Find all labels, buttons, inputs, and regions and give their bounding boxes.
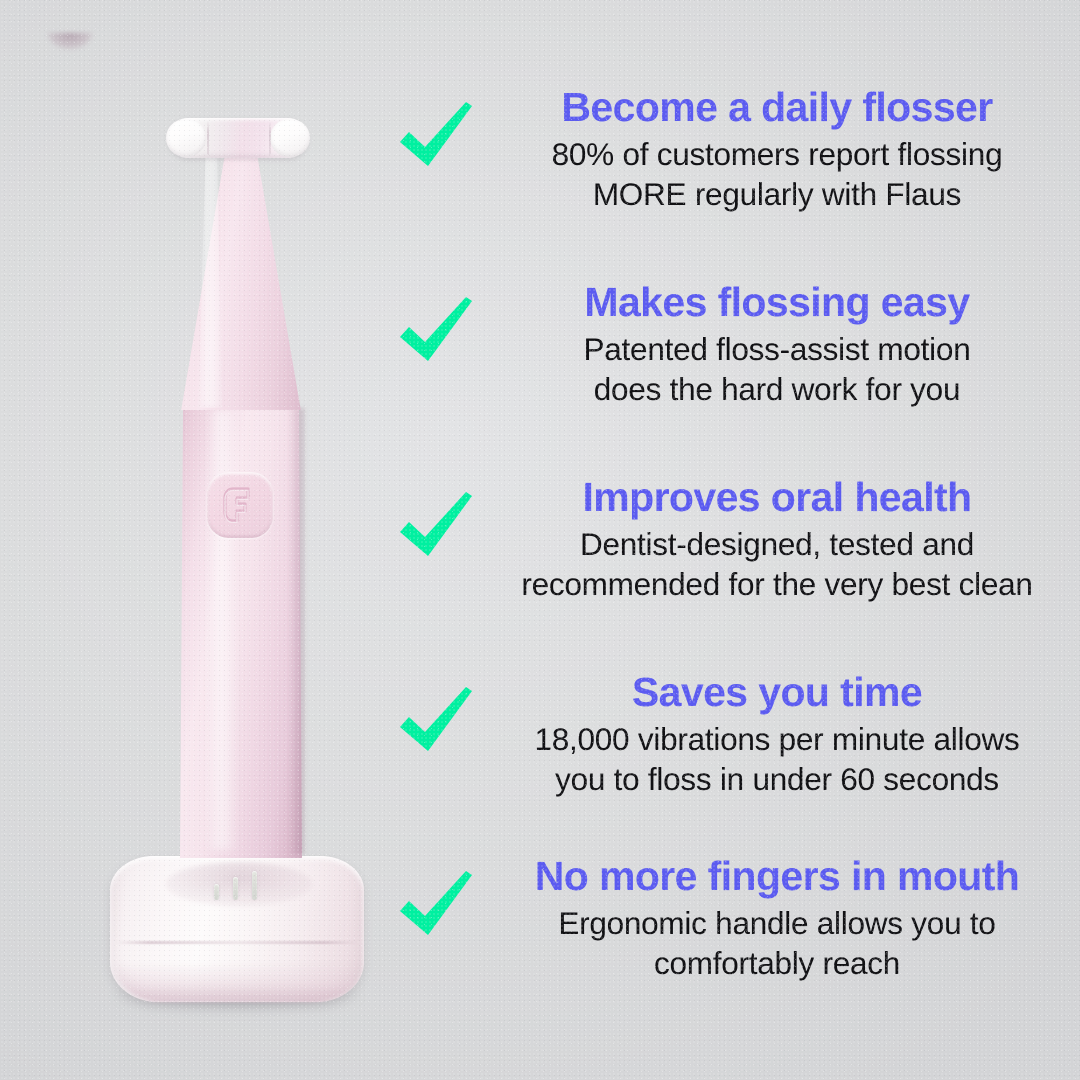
benefit-description: Patented floss-assist motion does the ha… bbox=[480, 329, 1074, 409]
benefit-title: Saves you time bbox=[480, 671, 1074, 714]
head-seam-left bbox=[207, 121, 209, 155]
base-docking-well bbox=[166, 862, 312, 906]
base-lower-skirt bbox=[118, 962, 356, 1002]
head-tip-right bbox=[270, 119, 310, 157]
benefit-description-line: 18,000 vibrations per minute allows bbox=[480, 719, 1074, 759]
green-checkmark-icon bbox=[392, 287, 480, 375]
benefit-description-line: comfortably reach bbox=[480, 943, 1074, 983]
benefit-description-line: you to floss in under 60 seconds bbox=[480, 759, 1074, 799]
green-checkmark-icon bbox=[392, 861, 480, 949]
benefit-title: Improves oral health bbox=[480, 476, 1074, 519]
benefit-description-line: Patented floss-assist motion bbox=[480, 329, 1074, 369]
benefits-list: Become a daily flosser 80% of customers … bbox=[392, 0, 1080, 1080]
benefit-description-line: Ergonomic handle allows you to bbox=[480, 903, 1074, 943]
handle-edge-shadow bbox=[288, 408, 304, 854]
list-item: Saves you time 18,000 vibrations per min… bbox=[392, 671, 1080, 799]
list-item: No more fingers in mouth Ergonomic handl… bbox=[392, 855, 1080, 983]
head-seam-right bbox=[269, 121, 271, 155]
benefit-title: Become a daily flosser bbox=[480, 86, 1074, 129]
battery-indicator-bar-1 bbox=[214, 884, 219, 900]
benefit-text: No more fingers in mouth Ergonomic handl… bbox=[480, 855, 1080, 983]
benefit-text: Improves oral health Dentist-designed, t… bbox=[480, 476, 1080, 604]
benefit-description-line: does the hard work for you bbox=[480, 369, 1074, 409]
benefit-text: Become a daily flosser 80% of customers … bbox=[480, 86, 1080, 214]
green-checkmark-icon bbox=[392, 482, 480, 570]
benefit-text: Makes flossing easy Patented floss-assis… bbox=[480, 281, 1080, 409]
benefit-description-line: recommended for the very best clean bbox=[480, 564, 1074, 604]
benefit-description: 18,000 vibrations per minute allows you … bbox=[480, 719, 1074, 799]
f-logo-power-button[interactable] bbox=[207, 472, 273, 538]
list-item: Improves oral health Dentist-designed, t… bbox=[392, 476, 1080, 604]
benefit-description: 80% of customers report flossing MORE re… bbox=[480, 134, 1074, 214]
benefit-title: No more fingers in mouth bbox=[480, 855, 1074, 898]
head-tip-left bbox=[166, 119, 206, 157]
product-feature-graphic: Become a daily flosser 80% of customers … bbox=[0, 0, 1080, 1080]
head-under-shadow bbox=[48, 33, 92, 49]
list-item: Become a daily flosser 80% of customers … bbox=[392, 86, 1080, 214]
flosser-neck bbox=[176, 148, 306, 410]
battery-indicator-bar-2 bbox=[233, 877, 238, 900]
f-logo-glyph bbox=[225, 489, 248, 522]
benefit-description-line: MORE regularly with Flaus bbox=[480, 174, 1074, 214]
benefit-description: Dentist-designed, tested and recommended… bbox=[480, 524, 1074, 604]
benefit-title: Makes flossing easy bbox=[480, 281, 1074, 324]
green-checkmark-icon bbox=[392, 677, 480, 765]
benefit-description-line: Dentist-designed, tested and bbox=[480, 524, 1074, 564]
green-checkmark-icon bbox=[392, 92, 480, 180]
benefit-description: Ergonomic handle allows you to comfortab… bbox=[480, 903, 1074, 983]
benefit-description-line: 80% of customers report flossing bbox=[480, 134, 1074, 174]
flosser-head bbox=[168, 118, 308, 158]
base-seam-line bbox=[116, 941, 358, 944]
battery-indicator-bar-3 bbox=[252, 871, 257, 900]
list-item: Makes flossing easy Patented floss-assis… bbox=[392, 281, 1080, 409]
product-image bbox=[0, 0, 430, 1080]
benefit-text: Saves you time 18,000 vibrations per min… bbox=[480, 671, 1080, 799]
